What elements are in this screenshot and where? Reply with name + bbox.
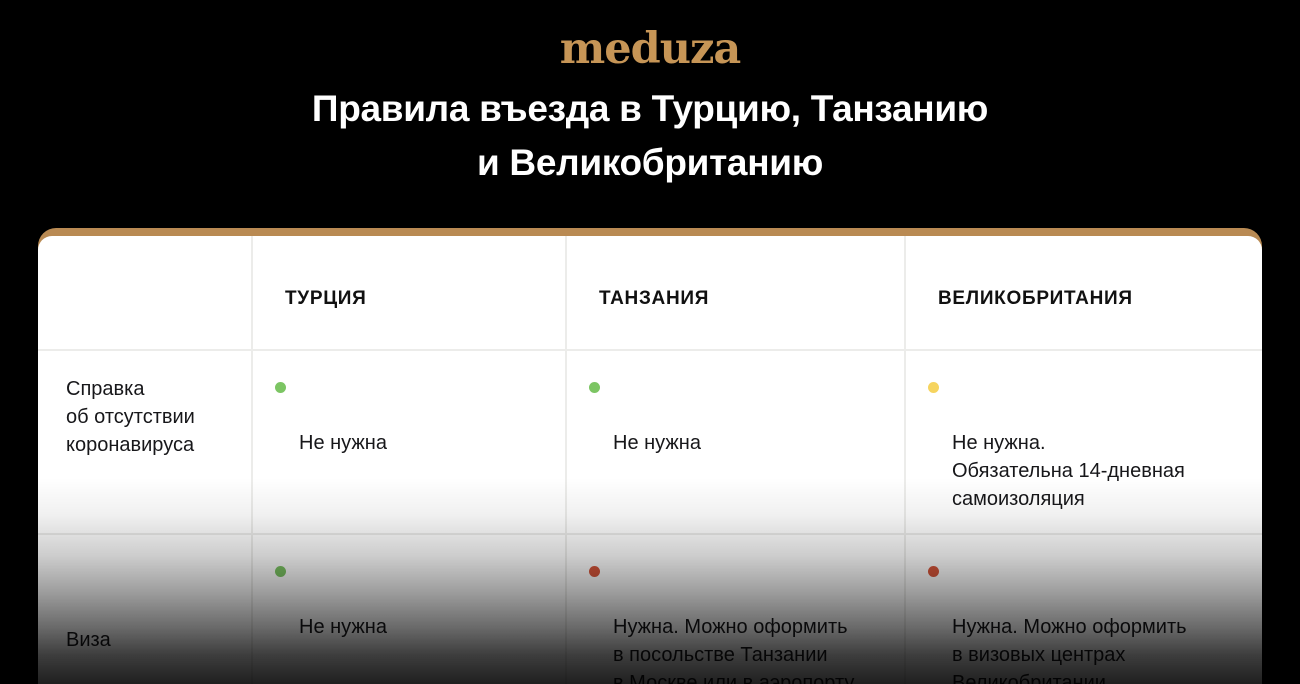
cell-certificate-turkey: Не нужна — [252, 350, 566, 534]
slide-canvas: meduza Правила въезда в Турцию, Танзанию… — [0, 0, 1300, 684]
status-text: Нужна. Можно оформить в визовых центрах … — [952, 616, 1187, 684]
cell-visa-turkey: Не нужна — [252, 534, 566, 684]
table-header-row: ТУРЦИЯ ТАНЗАНИЯ ВЕЛИКОБРИТАНИЯ — [38, 236, 1262, 350]
status-dot-green-icon — [275, 566, 286, 577]
comparison-card: ТУРЦИЯ ТАНЗАНИЯ ВЕЛИКОБРИТАНИЯ Справка о… — [38, 228, 1262, 684]
cell-visa-tanzania: Нужна. Можно оформить в посольстве Танза… — [566, 534, 905, 684]
card-body: ТУРЦИЯ ТАНЗАНИЯ ВЕЛИКОБРИТАНИЯ Справка о… — [38, 236, 1262, 684]
column-header-turkey: ТУРЦИЯ — [252, 236, 566, 350]
cell-certificate-uk: Не нужна. Обязательна 14-дневная самоизо… — [905, 350, 1262, 534]
row-label-visa: Виза — [38, 534, 252, 684]
status-text: Нужна. Можно оформить в посольстве Танза… — [613, 616, 854, 684]
status-dot-yellow-icon — [928, 382, 939, 393]
status-item: Не нужна — [275, 557, 545, 641]
status-text: Не нужна. Обязательна 14-дневная самоизо… — [952, 432, 1185, 510]
status-dot-red-icon — [928, 566, 939, 577]
status-dot-red-icon — [589, 566, 600, 577]
column-header-uk: ВЕЛИКОБРИТАНИЯ — [905, 236, 1262, 350]
status-item: Не нужна — [589, 373, 884, 457]
status-item: Не нужна — [275, 373, 545, 457]
table-row: Виза Не нужна Нужна. Можно оформить в по… — [38, 534, 1262, 684]
page-title: Правила въезда в Турцию, Танзанию и Вели… — [0, 82, 1300, 190]
table-header: ТУРЦИЯ ТАНЗАНИЯ ВЕЛИКОБРИТАНИЯ — [38, 236, 1262, 350]
status-text: Не нужна — [299, 432, 387, 454]
status-dot-green-icon — [589, 382, 600, 393]
column-header-blank — [38, 236, 252, 350]
status-dot-green-icon — [275, 382, 286, 393]
status-text: Не нужна — [299, 616, 387, 638]
cell-visa-uk: Нужна. Можно оформить в визовых центрах … — [905, 534, 1262, 684]
cell-certificate-tanzania: Не нужна — [566, 350, 905, 534]
column-header-tanzania: ТАНЗАНИЯ — [566, 236, 905, 350]
meduza-logo: meduza — [0, 26, 1300, 72]
entry-rules-table: ТУРЦИЯ ТАНЗАНИЯ ВЕЛИКОБРИТАНИЯ Справка о… — [38, 236, 1262, 684]
status-item: Нужна. Можно оформить в визовых центрах … — [928, 557, 1242, 684]
row-label-covid-certificate: Справка об отсутствии коронавируса — [38, 350, 252, 534]
status-item: Нужна. Можно оформить в посольстве Танза… — [589, 557, 884, 684]
table-row: Справка об отсутствии коронавируса Не ну… — [38, 350, 1262, 534]
table-body: Справка об отсутствии коронавируса Не ну… — [38, 350, 1262, 684]
status-item: Не нужна. Обязательна 14-дневная самоизо… — [928, 373, 1242, 513]
status-text: Не нужна — [613, 432, 701, 454]
